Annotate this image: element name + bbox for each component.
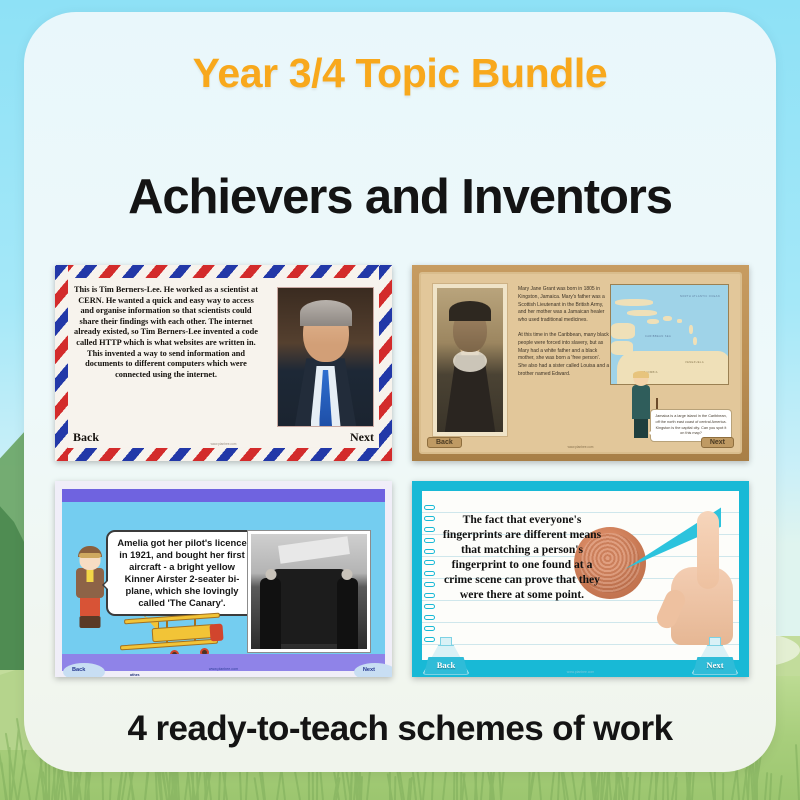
fingerprints-url: www.planbee.com (567, 670, 595, 674)
amelia-earhart-photo (247, 530, 371, 653)
map-label: VENEZUELA (685, 361, 704, 364)
card-berners-lee-body: This is Tim Berners-Lee. He worked as a … (69, 279, 378, 447)
fingerprints-back-button[interactable]: Back (418, 637, 474, 675)
berners-lee-url: www.planbee.com (211, 442, 237, 446)
card-fingerprints-body: The fact that everyone's fingerprints ar… (422, 491, 739, 660)
card-grid: This is Tim Berners-Lee. He worked as a … (55, 265, 749, 677)
mary-seacole-back-button[interactable]: Back (427, 437, 462, 448)
airmail-border-right (379, 265, 392, 461)
card-amelia-earhart-body: Amelia got her pilot's licence in 1921, … (62, 502, 385, 654)
spiral-binding-icon (424, 505, 435, 646)
amelia-url: www.planbee.com (209, 667, 238, 671)
card-mary-seacole[interactable]: Mary Jane Grant was born in 1805 in King… (412, 265, 749, 461)
card-berners-lee[interactable]: This is Tim Berners-Lee. He worked as a … (55, 265, 392, 461)
airmail-border-bottom (55, 448, 392, 461)
card-mary-seacole-body: Mary Jane Grant was born in 1805 in King… (419, 272, 742, 454)
airmail-border-left (55, 265, 68, 461)
card-fingerprints[interactable]: The fact that everyone's fingerprints ar… (412, 481, 749, 677)
mary-seacole-text: Mary Jane Grant was born in 1805 in King… (518, 286, 610, 379)
mary-seacole-next-button[interactable]: Next (701, 437, 734, 448)
amelia-next-button[interactable]: Next (363, 667, 375, 673)
fingerprints-back-label: Back (437, 660, 456, 670)
amelia-back-button[interactable]: Back (72, 667, 85, 673)
fingerprints-next-button[interactable]: Next (687, 637, 743, 675)
main-panel: Year 3/4 Topic Bundle Achievers and Inve… (24, 12, 776, 772)
page-footer-text: 4 ready-to-teach schemes of work (24, 709, 776, 749)
fingerprints-next-label: Next (706, 660, 723, 670)
card-berners-lee-text: This is Tim Berners-Lee. He worked as a … (73, 285, 259, 380)
map-label: CARIBBEAN SEA (645, 335, 671, 338)
mary-seacole-url: www.planbee.com (568, 445, 594, 449)
fingerprints-text: The fact that everyone's fingerprints ar… (442, 512, 602, 602)
mary-seacole-paragraph-2: At this time in the Caribbean, many blac… (518, 332, 610, 379)
card-amelia-earhart[interactable]: Amelia got her pilot's licence in 1921, … (55, 481, 392, 677)
amelia-back-label: Back (72, 667, 85, 673)
berners-lee-portrait (277, 287, 374, 427)
berners-lee-back-button[interactable]: Back (73, 430, 99, 445)
amelia-header-bar (62, 489, 385, 502)
berners-lee-paragraph-2: The internet already existed, so Tim Ber… (74, 317, 258, 379)
page-kicker: Year 3/4 Topic Bundle (24, 50, 776, 97)
airmail-border-top (55, 265, 392, 278)
map-label: NORTH ATLANTIC OCEAN (680, 295, 720, 298)
hand-photo (639, 505, 739, 645)
mary-seacole-paragraph-1: Mary Jane Grant was born in 1805 in King… (518, 286, 610, 325)
caribbean-map: NORTH ATLANTIC OCEAN CARIBBEAN SEA VENEZ… (610, 284, 729, 385)
berners-lee-next-button[interactable]: Next (350, 430, 374, 445)
amelia-speech-bubble: Amelia got her pilot's licence in 1921, … (106, 530, 258, 616)
amelia-next-label: Next (363, 667, 375, 673)
page-title: Achievers and Inventors (24, 169, 776, 225)
mary-seacole-portrait (432, 283, 508, 437)
